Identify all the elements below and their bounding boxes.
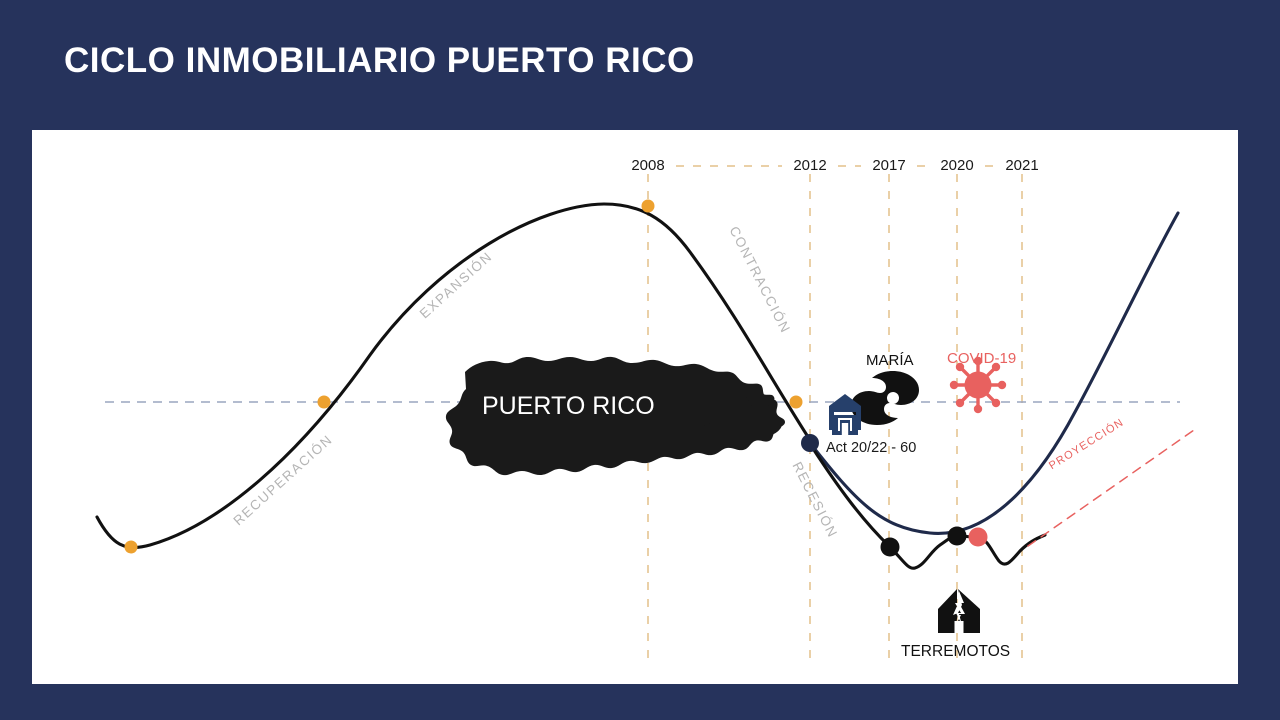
year-label-2020: 2020 bbox=[940, 157, 973, 174]
slide-root: CICLO INMOBILIARIO PUERTO RICO bbox=[0, 0, 1280, 720]
page-title: CICLO INMOBILIARIO PUERTO RICO bbox=[64, 41, 695, 81]
event-label-terremotos: TERREMOTOS bbox=[901, 643, 1010, 661]
map-label: PUERTO RICO bbox=[482, 392, 655, 421]
year-label-2017: 2017 bbox=[872, 157, 905, 174]
event-label-maria: MARÍA bbox=[866, 352, 914, 369]
year-label-2012: 2012 bbox=[793, 157, 826, 174]
year-label-2021: 2021 bbox=[1005, 157, 1038, 174]
event-label-covid: COVID-19 bbox=[947, 350, 1016, 367]
year-label-2008: 2008 bbox=[631, 157, 664, 174]
event-label-act: Act 20/22 - 60 bbox=[826, 440, 916, 456]
